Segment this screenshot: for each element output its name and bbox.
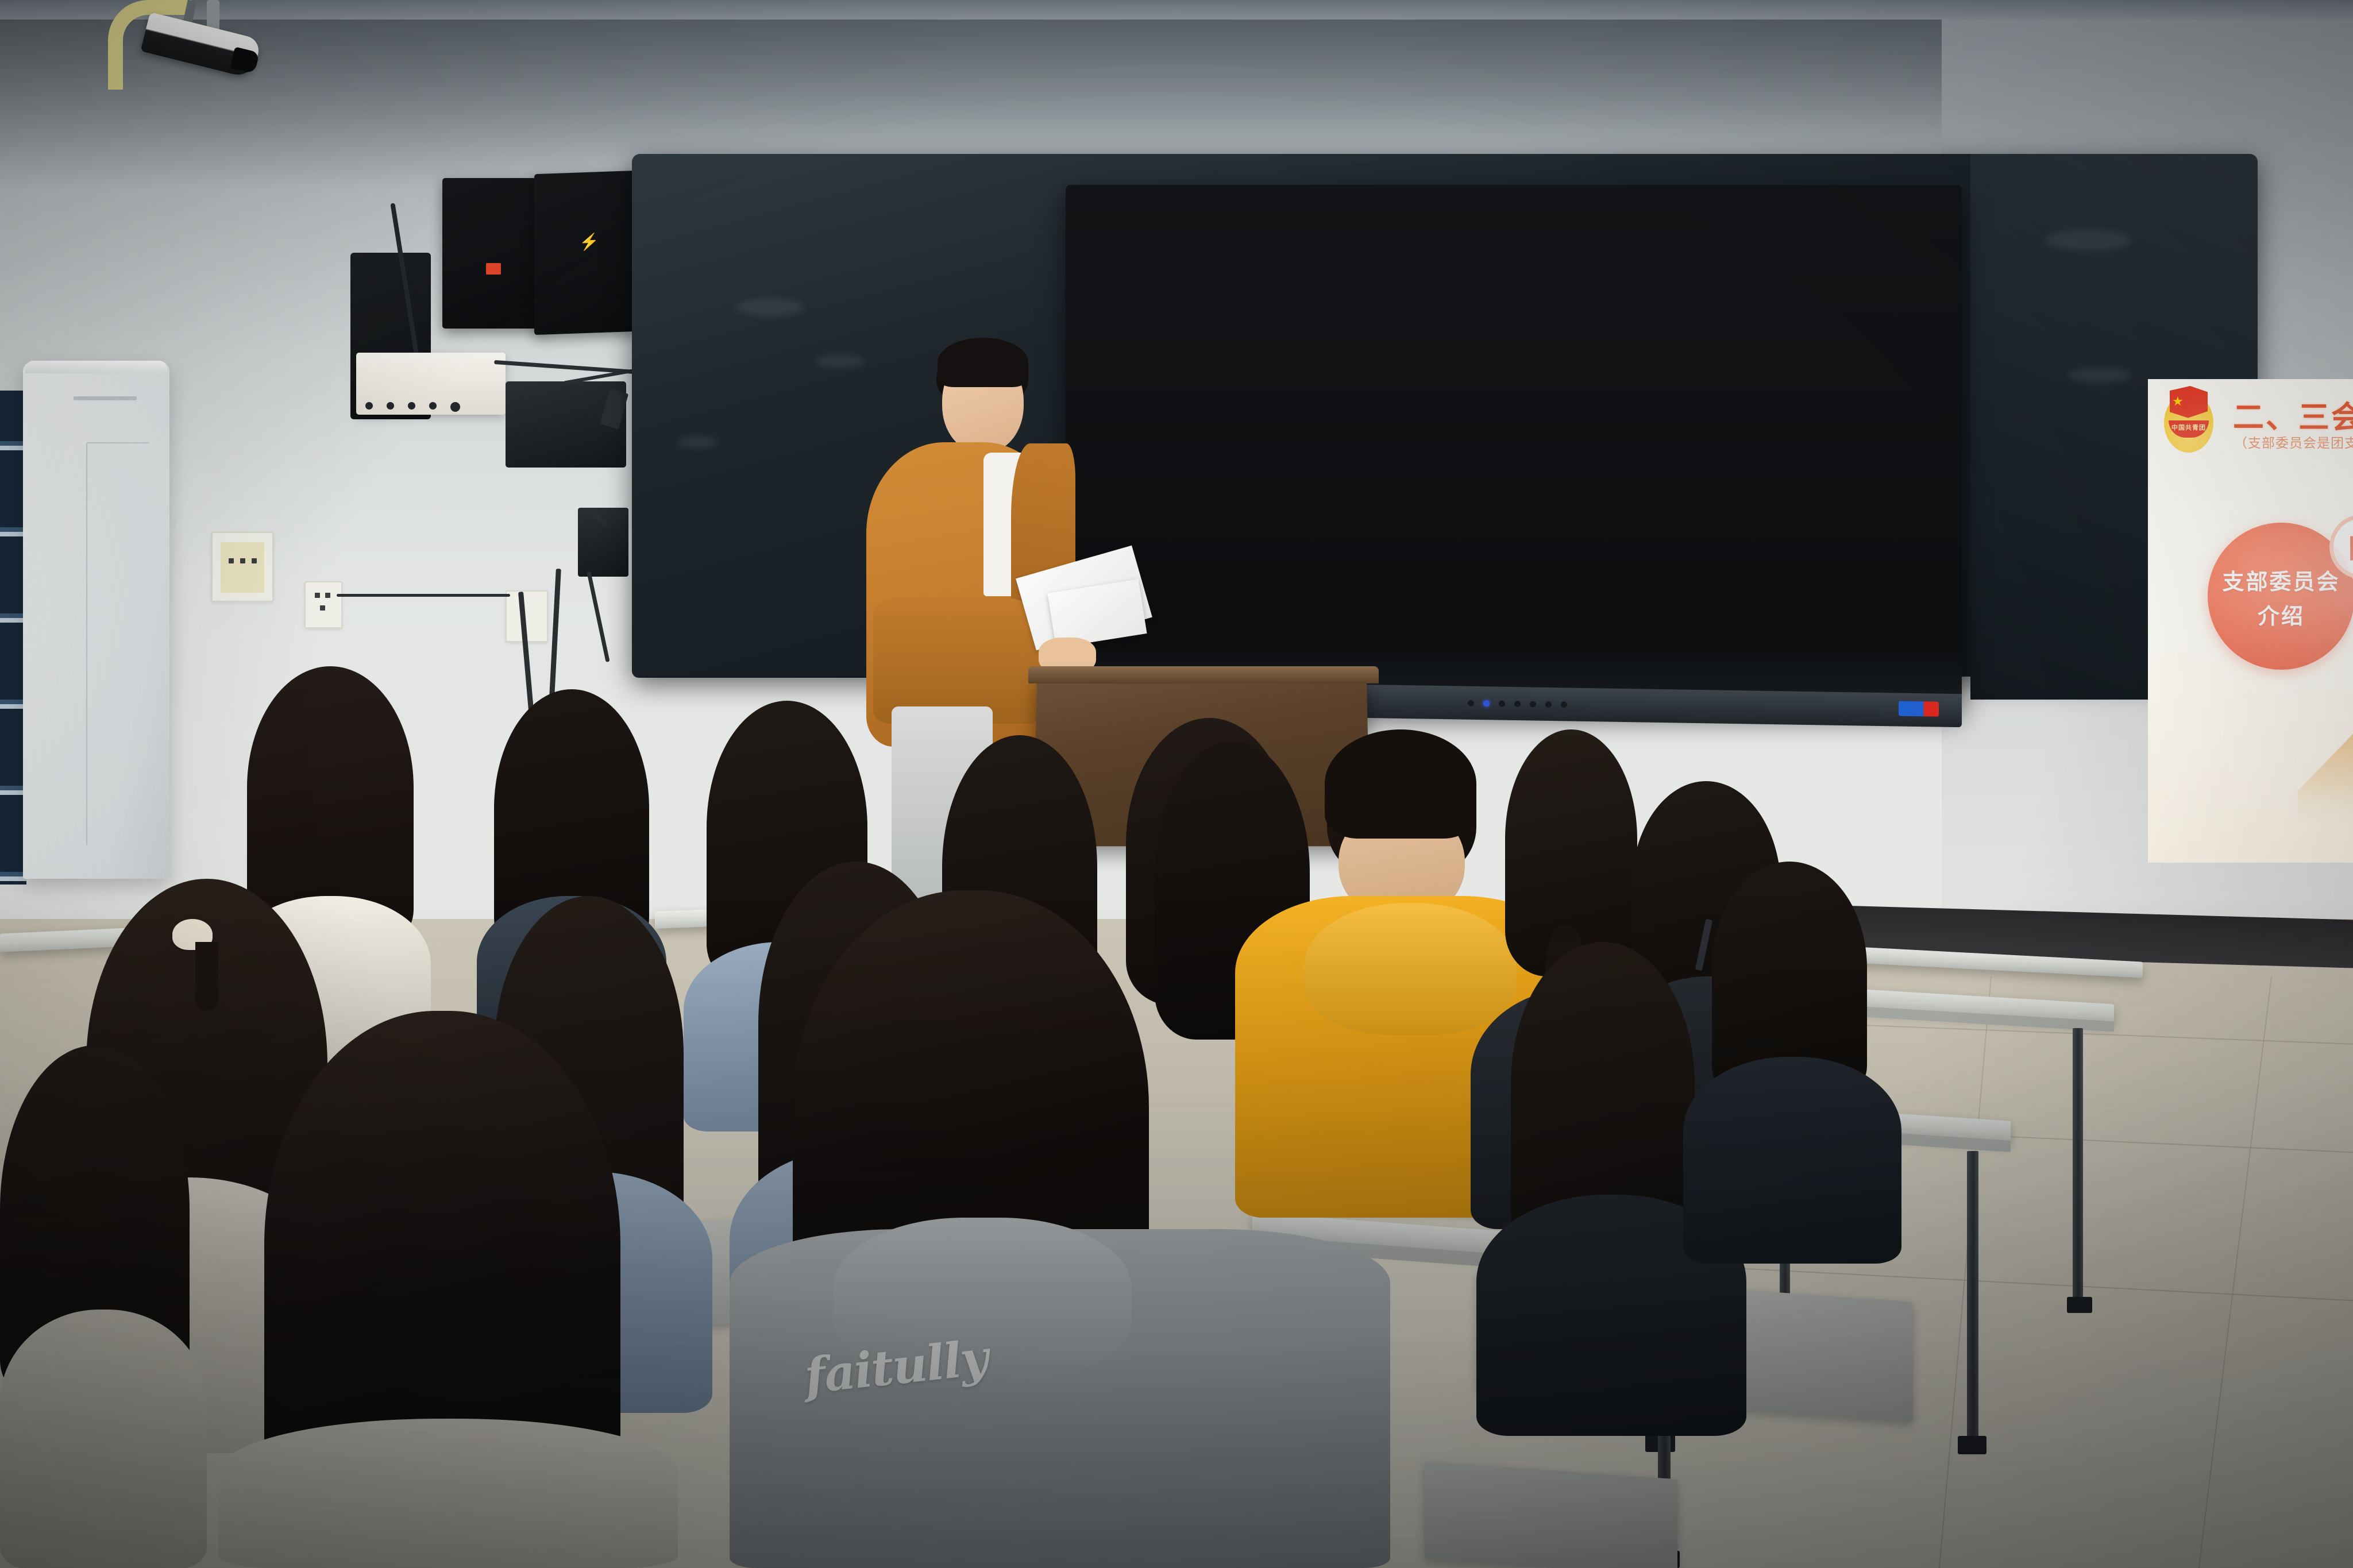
emblem-label: 中国共青团 bbox=[2169, 423, 2209, 432]
ceiling-edge bbox=[0, 0, 2353, 20]
wall-speaker-left bbox=[442, 178, 546, 329]
star-icon: ★ bbox=[2172, 395, 2185, 408]
topic-badge-line2: 介绍 bbox=[2208, 598, 2353, 630]
wall-speaker-right: ⚡ bbox=[534, 171, 638, 335]
display-indicators bbox=[1468, 700, 1567, 708]
air-conditioner-top bbox=[25, 361, 167, 373]
ponytail bbox=[195, 942, 218, 1011]
cyl-emblem-icon: ★ 中国共青团 bbox=[2161, 384, 2213, 455]
light-switch-plate[interactable] bbox=[211, 532, 273, 602]
chair-back bbox=[1425, 1462, 1677, 1568]
desk-leg bbox=[2073, 1028, 2083, 1304]
classroom-scene: ⚡ ★ bbox=[0, 0, 2353, 1568]
desk-foot bbox=[1958, 1436, 1986, 1454]
speaker-brand-icon bbox=[486, 263, 501, 275]
display-logo-icon bbox=[1899, 701, 1939, 717]
topic-badge-line1: 支部委员会 bbox=[2208, 564, 2353, 596]
smart-display[interactable]: ★ 中国共青团 二、三会-支部委员会 （支部委员会是团支部在团员大会闭会期间的领… bbox=[1066, 185, 1962, 709]
desk-leg bbox=[1967, 1151, 1978, 1444]
slide-subtitle: （支部委员会是团支部在团员大会闭会期间的领导机构） bbox=[2234, 432, 2353, 451]
slide-title: 二、三会-支部委员会 bbox=[2233, 392, 2353, 437]
presentation-slide[interactable]: ★ 中国共青团 二、三会-支部委员会 （支部委员会是团支部在团员大会闭会期间的领… bbox=[2148, 379, 2353, 863]
hood bbox=[1304, 903, 1517, 1035]
router-leds bbox=[365, 402, 460, 412]
desk-foot bbox=[2067, 1297, 2092, 1313]
conduit-pipe bbox=[108, 55, 123, 90]
lectern-top bbox=[1028, 666, 1379, 683]
air-conditioner-brand bbox=[74, 396, 137, 400]
air-conditioner-panel-seam bbox=[86, 442, 149, 845]
wall-plug-adapter bbox=[578, 508, 628, 577]
wall-outlet-plate[interactable] bbox=[304, 581, 342, 628]
cable bbox=[337, 594, 510, 597]
speaker-brand-icon: ⚡ bbox=[579, 234, 589, 254]
mountain-decoration-icon bbox=[2148, 677, 2353, 832]
